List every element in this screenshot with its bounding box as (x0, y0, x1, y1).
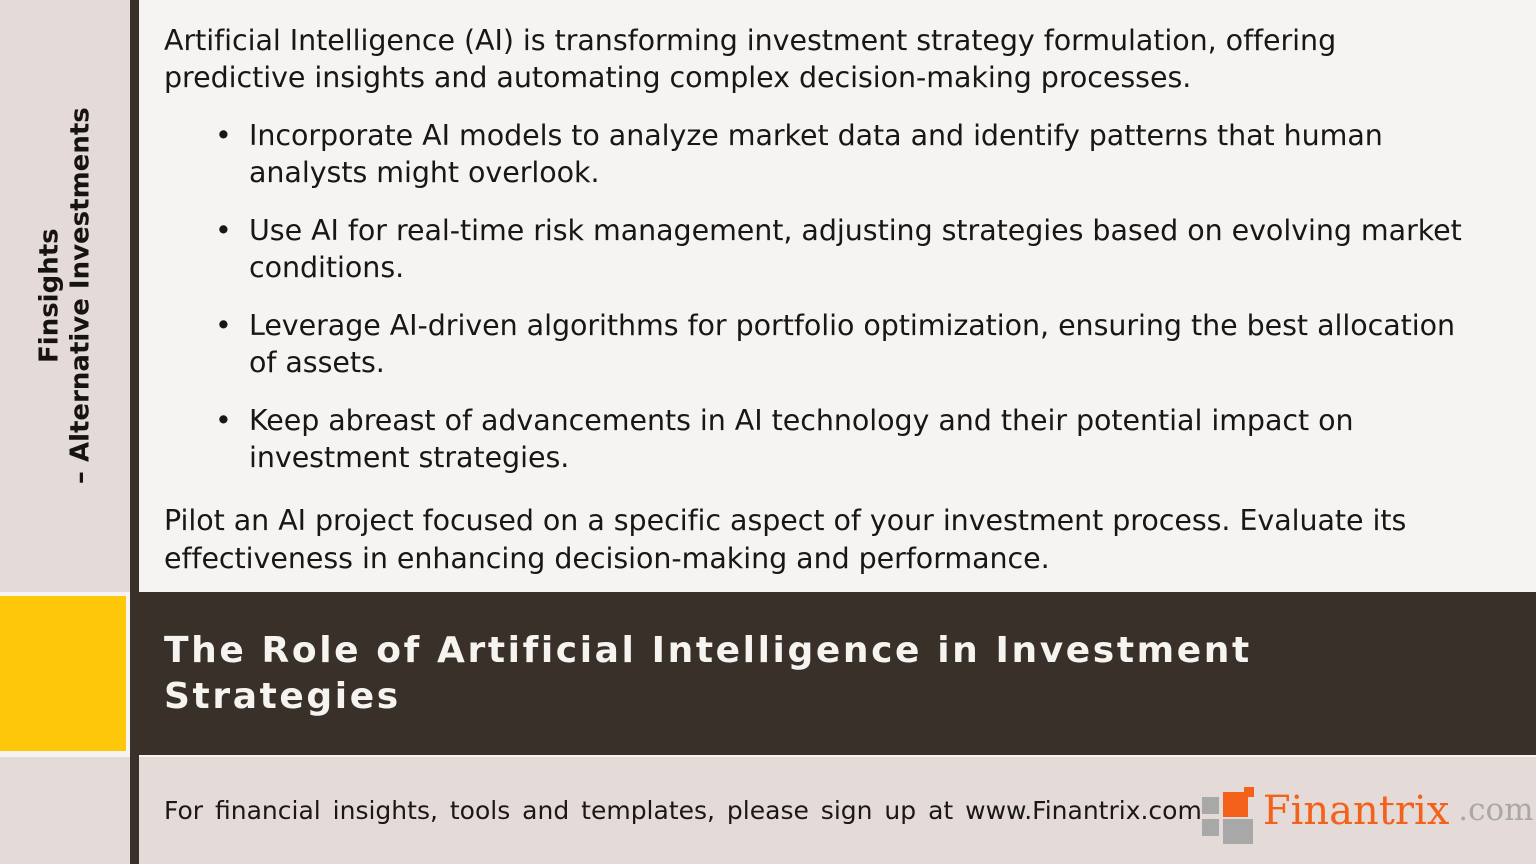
list-item-text: Keep abreast of advancements in AI techn… (249, 404, 1354, 474)
page-title: The Role of Artificial Intelligence in I… (139, 628, 1536, 719)
list-item-text: Leverage AI-driven algorithms for portfo… (249, 309, 1455, 379)
bullet-marker-icon: • (215, 117, 232, 154)
accent-block (0, 596, 126, 751)
list-item-text: Incorporate AI models to analyze market … (249, 119, 1383, 189)
title-band: The Role of Artificial Intelligence in I… (139, 592, 1536, 755)
list-item: • Incorporate AI models to analyze marke… (212, 117, 1476, 191)
vertical-divider (130, 0, 139, 864)
finantrix-logo[interactable]: Finantrix.com (1202, 787, 1536, 835)
finantrix-squares-icon (1202, 787, 1254, 835)
sidebar-rail-label-line1: Finsights (34, 229, 64, 364)
footer-left-block (0, 757, 130, 864)
slide-root: Finsights – Alternative Investments Arti… (0, 0, 1536, 864)
sidebar-rail: Finsights – Alternative Investments (0, 0, 130, 592)
sidebar-rail-label-line2: – Alternative Investments (65, 108, 96, 485)
list-item: • Use AI for real-time risk management, … (212, 212, 1476, 286)
content-panel: Artificial Intelligence (AI) is transfor… (139, 0, 1536, 592)
logo-wordmark: Finantrix (1263, 791, 1449, 831)
logo-tld: .com (1458, 795, 1533, 826)
list-item: • Keep abreast of advancements in AI tec… (212, 402, 1476, 476)
footer-bar: For financial insights, tools and templa… (139, 757, 1536, 864)
bullet-marker-icon: • (215, 402, 232, 439)
list-item-text: Use AI for real-time risk management, ad… (249, 214, 1462, 284)
sidebar-rail-label: Finsights – Alternative Investments (34, 108, 95, 485)
bullet-marker-icon: • (215, 212, 232, 249)
closing-paragraph: Pilot an AI project focused on a specifi… (164, 502, 1476, 576)
bullet-marker-icon: • (215, 307, 232, 344)
list-item: • Leverage AI-driven algorithms for port… (212, 307, 1476, 381)
lead-paragraph: Artificial Intelligence (AI) is transfor… (164, 22, 1476, 96)
footer-text: For financial insights, tools and templa… (139, 796, 1202, 825)
bullet-list: • Incorporate AI models to analyze marke… (164, 117, 1476, 476)
